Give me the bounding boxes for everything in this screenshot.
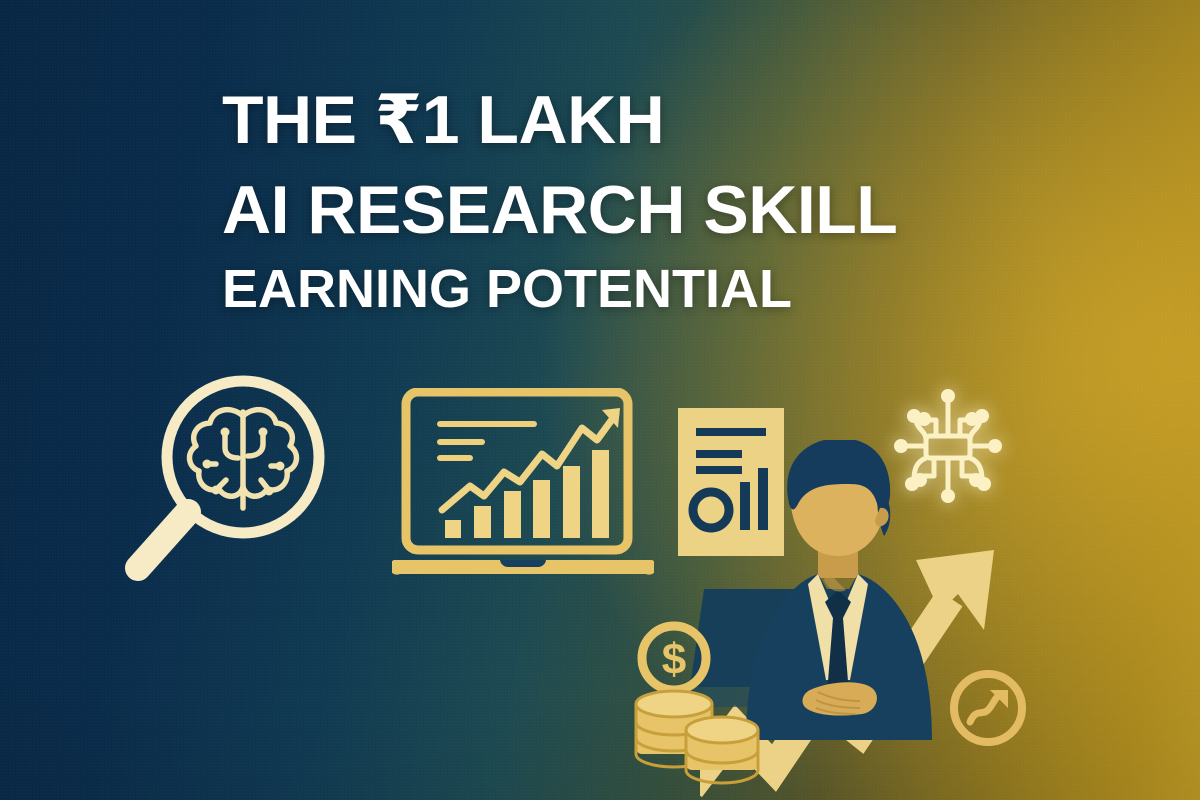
money-coins-icon: $	[622, 618, 772, 788]
laptop-growth-chart-icon	[392, 388, 654, 588]
laptop-chart-bars	[445, 450, 609, 538]
magnifier-brain-icon	[108, 372, 348, 592]
dollar-symbol: $	[662, 635, 686, 684]
headline-line-1: THE ₹1 LAKH	[222, 86, 897, 154]
trend-badge-icon	[940, 660, 1036, 756]
page-title: THE ₹1 LAKH AI RESEARCH SKILL EARNING PO…	[222, 86, 897, 316]
headline-line-3: EARNING POTENTIAL	[222, 262, 897, 316]
headline-line-2: AI RESEARCH SKILL	[222, 176, 897, 244]
coin-stack-right	[686, 717, 758, 783]
poster-canvas: THE ₹1 LAKH AI RESEARCH SKILL EARNING PO…	[0, 0, 1200, 800]
